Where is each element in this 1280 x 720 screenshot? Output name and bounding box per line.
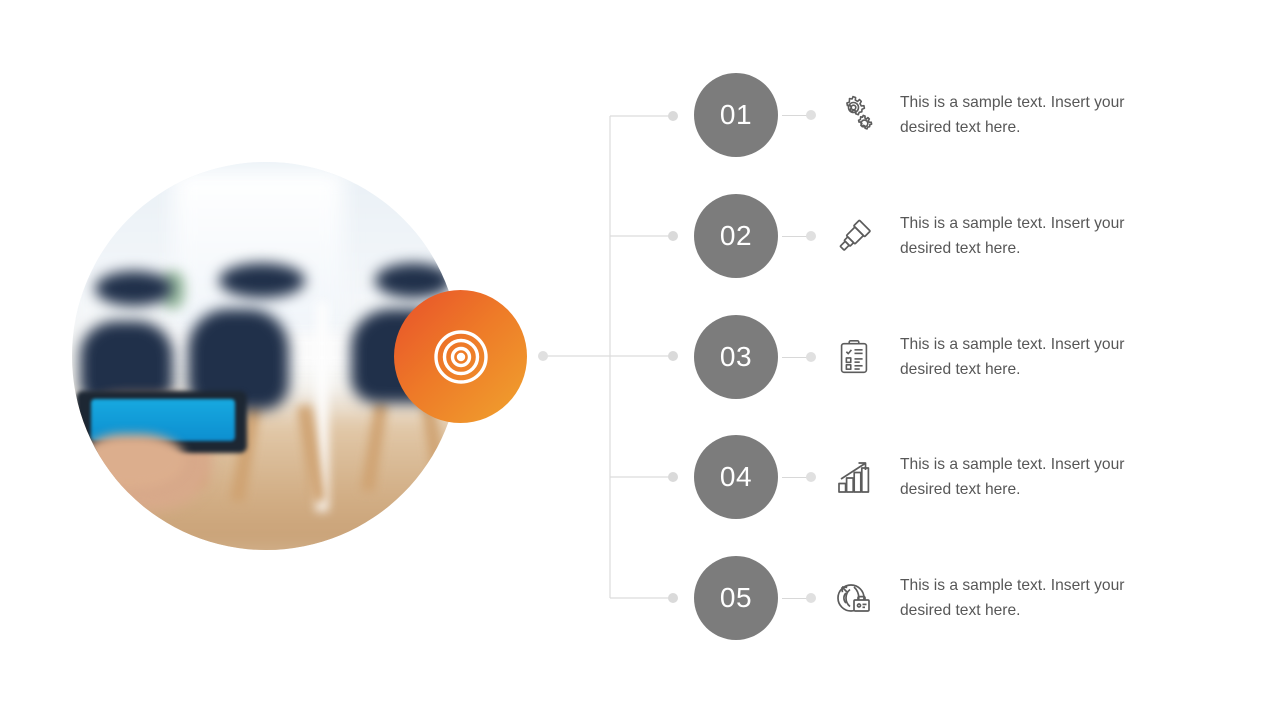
target-icon [431,327,491,387]
step-connector-stub [778,556,826,640]
step-number-label: 05 [720,582,752,614]
step-number-label: 03 [720,341,752,373]
stub-dot [806,352,816,362]
list-item-text: This is a sample text. Insert your desir… [900,452,1162,502]
step-connector-stub [778,73,826,157]
telescope-icon [826,208,882,264]
stub-dot [806,231,816,241]
stub-dot [806,472,816,482]
step-number-circle[interactable]: 02 [694,194,778,278]
stub-line [782,236,808,237]
list-item-text: This is a sample text. Insert your desir… [900,332,1162,382]
stub-line [782,115,808,116]
stub-line [782,477,808,478]
gears-icon [826,87,882,143]
stub-dot [806,110,816,120]
contactless-payment-icon [826,570,882,626]
step-connector-stub [778,194,826,278]
step-connector-stub [778,435,826,519]
target-badge[interactable] [394,290,527,423]
step-connector-stub [778,315,826,399]
list-item[interactable]: 02 This is a sample text. Insert your de… [694,194,1162,278]
step-number-circle[interactable]: 05 [694,556,778,640]
stub-line [782,357,808,358]
step-number-label: 02 [720,220,752,252]
list-item[interactable]: 03 This is a sample text. Insert your de… [694,315,1162,399]
photo-fingers [84,434,185,488]
photo-chair-back [219,263,304,298]
slide-canvas: 01 This is a sample text. Insert your de… [0,0,1280,720]
list-item[interactable]: 04 This is a sample text. Insert your de… [694,435,1162,519]
step-number-circle[interactable]: 01 [694,73,778,157]
step-number-circle[interactable]: 04 [694,435,778,519]
list-item-text: This is a sample text. Insert your desir… [900,90,1162,140]
step-number-label: 01 [720,99,752,131]
list-item-text: This is a sample text. Insert your desir… [900,573,1162,623]
growth-bar-chart-icon [826,449,882,505]
stub-line [782,598,808,599]
list-item[interactable]: 05 This is a sample text. Insert your de… [694,556,1162,640]
photo-chair-back [95,271,173,306]
step-number-circle[interactable]: 03 [694,315,778,399]
clipboard-checklist-icon [826,329,882,385]
list-item-text: This is a sample text. Insert your desir… [900,211,1162,261]
stub-dot [806,593,816,603]
step-number-label: 04 [720,461,752,493]
list-item[interactable]: 01 This is a sample text. Insert your de… [694,73,1162,157]
